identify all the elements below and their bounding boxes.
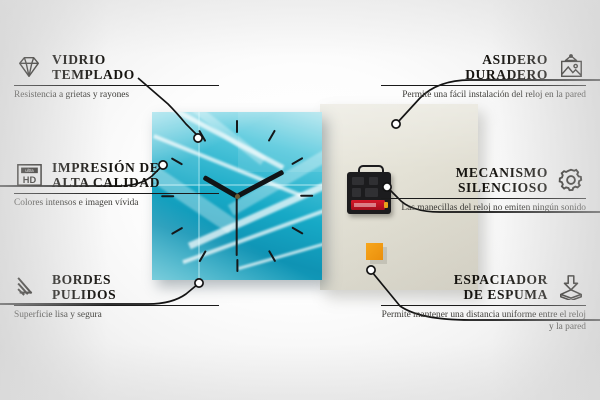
feature-description: Las manecillas del reloj no emiten ningú…: [381, 203, 586, 214]
feature-description: Colores intensos e imagen vívida: [14, 198, 219, 209]
feature-title-line1: ASIDERO: [465, 52, 548, 67]
feature-title-line2: TEMPLADO: [52, 67, 135, 82]
foam-spacer-piece: [366, 243, 383, 260]
clock-tick: [291, 226, 303, 235]
svg-text:HD: HD: [23, 175, 37, 185]
foam-spacer-arrow-icon: [556, 274, 586, 300]
clock-center-cap: [235, 194, 240, 199]
feature-title-line1: IMPRESIÓN DE: [52, 160, 160, 175]
clock-tick: [171, 226, 183, 235]
feature-description: Permite mantener una distancia uniforme …: [381, 310, 586, 333]
divider: [14, 85, 219, 86]
divider: [381, 85, 586, 86]
feature-bordes-pulidos: BORDES PULIDOS Superficie lisa y segura: [14, 272, 219, 322]
clock-second-hand: [236, 196, 238, 256]
feature-mecanismo-silencioso: MECANISMO SILENCIOSO Las manecillas del …: [381, 165, 586, 215]
feature-title-line2: DE ESPUMA: [454, 287, 548, 302]
hanging-picture-icon: [556, 54, 586, 80]
feature-title-line2: ALTA CALIDAD: [52, 175, 160, 190]
divider: [381, 305, 586, 306]
ultra-hd-badge-icon: ultra HD: [14, 162, 44, 188]
gear-icon: [556, 167, 586, 193]
feature-title-line1: VIDRIO: [52, 52, 135, 67]
feature-title-line2: PULIDOS: [52, 287, 116, 302]
feature-description: Permite una fácil instalación del reloj …: [381, 90, 586, 101]
feature-description: Superficie lisa y segura: [14, 310, 219, 321]
infographic-canvas: VIDRIO TEMPLADO Resistencia a grietas y …: [0, 0, 600, 400]
svg-text:ultra: ultra: [25, 168, 34, 173]
divider: [381, 198, 586, 199]
feature-title-line1: MECANISMO: [456, 165, 548, 180]
feature-impresion-alta-calidad: ultra HD IMPRESIÓN DE ALTA CALIDAD Color…: [14, 160, 219, 210]
feature-asidero-duradero: ASIDERO DURADERO Permite una fácil insta…: [381, 52, 586, 102]
feature-espaciador-de-espuma: ESPACIADOR DE ESPUMA Permite mantener un…: [381, 272, 586, 333]
clock-tick: [236, 259, 238, 272]
feature-title-line2: SILENCIOSO: [456, 180, 548, 195]
diamond-icon: [14, 54, 44, 80]
feature-title-line1: ESPACIADOR: [454, 272, 548, 287]
polished-edges-icon: [14, 274, 44, 300]
divider: [14, 305, 219, 306]
feature-description: Resistencia a grietas y rayones: [14, 90, 219, 101]
feature-title-line2: DURADERO: [465, 67, 548, 82]
mechanism-battery: [351, 200, 385, 210]
feature-vidrio-templado: VIDRIO TEMPLADO Resistencia a grietas y …: [14, 52, 219, 102]
divider: [14, 193, 219, 194]
feature-title-line1: BORDES: [52, 272, 116, 287]
